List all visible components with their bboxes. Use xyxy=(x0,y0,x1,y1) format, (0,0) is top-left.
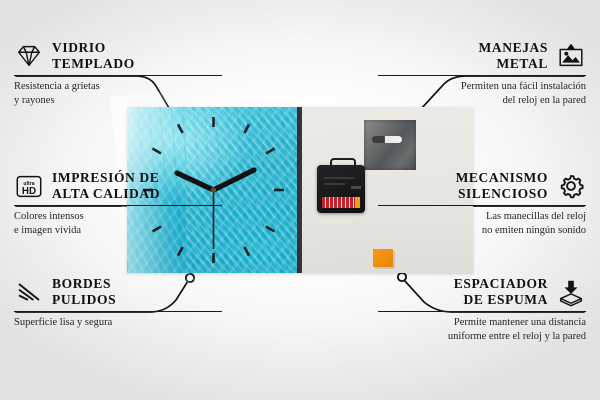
feature-description: Las manecillas del reloj no emiten ningú… xyxy=(378,210,586,238)
divider xyxy=(378,205,586,206)
feature-vidrio-templado: VIDRIO TEMPLADO Resistencia a grietas y … xyxy=(14,40,222,108)
feature-bordes-pulidos: BORDES PULIDOS Superficie lisa y segura xyxy=(14,276,222,330)
feature-mecanismo-silencioso: MECANISMO SILENCIOSO Las manecillas del … xyxy=(378,170,586,238)
polished-edges-icon xyxy=(14,277,44,307)
svg-text:HD: HD xyxy=(22,186,36,197)
feature-description: Colores intensos e imagen vívida xyxy=(14,210,222,238)
metal-hanger-plate xyxy=(364,120,416,170)
movement-detail-3 xyxy=(351,186,361,189)
feature-description: Superficie lisa y segura xyxy=(14,316,222,330)
feature-description: Resistencia a grietas y rayones xyxy=(14,80,222,108)
hanger-slot xyxy=(372,136,402,143)
divider xyxy=(14,311,222,312)
feature-espaciador-espuma: ESPACIADOR DE ESPUMA Permite mantener un… xyxy=(378,276,586,344)
movement-hook xyxy=(330,158,356,170)
divider xyxy=(378,311,586,312)
feature-title: IMPRESIÓN DE ALTA CALIDAD xyxy=(52,170,160,202)
feature-title: BORDES PULIDOS xyxy=(52,276,116,308)
feature-title: ESPACIADOR DE ESPUMA xyxy=(454,276,548,308)
foam-spacer xyxy=(373,249,393,267)
diamond-icon xyxy=(14,41,44,71)
ultra-hd-icon: ultra HD xyxy=(14,171,44,201)
feature-description: Permite mantener una distancia uniforme … xyxy=(378,316,586,344)
feature-title: VIDRIO TEMPLADO xyxy=(52,40,135,72)
divider xyxy=(14,205,222,206)
feature-impresion-alta-calidad: ultra HD IMPRESIÓN DE ALTA CALIDAD Color… xyxy=(14,170,222,238)
movement-detail-2 xyxy=(324,183,345,185)
divider xyxy=(378,75,586,76)
gear-icon xyxy=(556,171,586,201)
feature-title: MECANISMO SILENCIOSO xyxy=(456,170,548,202)
divider xyxy=(14,75,222,76)
quartz-movement xyxy=(317,165,365,213)
infographic-canvas: VIDRIO TEMPLADO Resistencia a grietas y … xyxy=(0,0,600,400)
feature-description: Permiten una fácil instalación del reloj… xyxy=(378,80,586,108)
feature-title: MANEJAS METAL xyxy=(479,40,548,72)
battery-cap xyxy=(355,197,360,208)
movement-detail-1 xyxy=(324,177,354,179)
picture-hanger-icon xyxy=(556,41,586,71)
foam-spacer-icon xyxy=(556,277,586,307)
feature-manejas-metal: MANEJAS METAL Permiten una fácil instala… xyxy=(378,40,586,108)
